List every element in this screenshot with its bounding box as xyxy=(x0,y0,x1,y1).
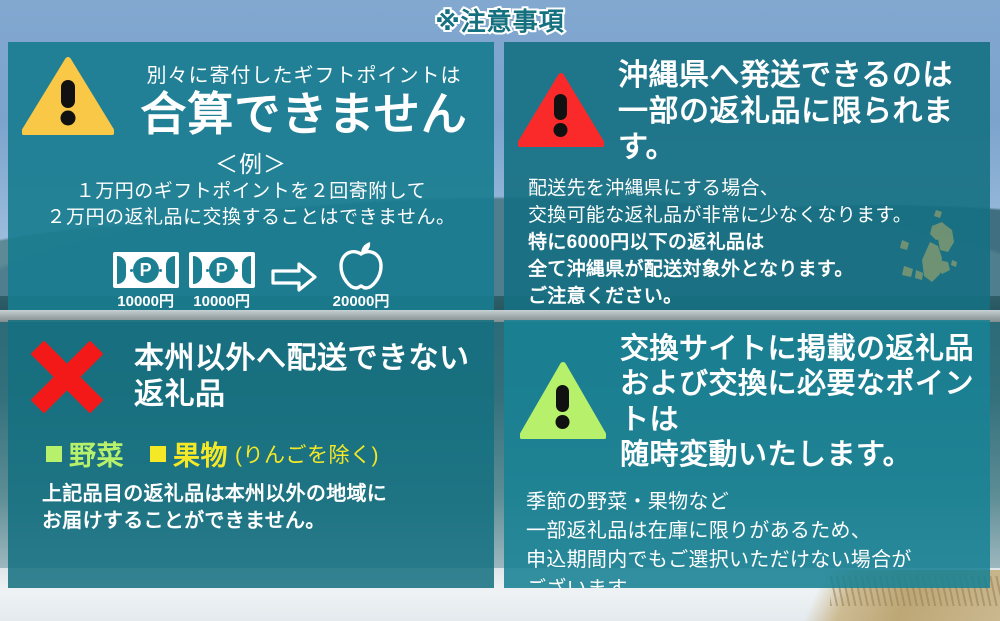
bullet-square-green-icon xyxy=(46,446,62,462)
panel4-body-line-3: 申込期間内でもご選択いただけない場合が xyxy=(526,546,990,575)
panel1-headline: 合算できません xyxy=(114,90,494,138)
panel4-headline-line-3: 随時変動いたします。 xyxy=(620,438,990,473)
panel4-headline-row: 交換サイトに掲載の返礼品 および交換に必要なポイントは 随時変動いたします。 xyxy=(504,320,990,474)
panel-honshu-only: 本州以外へ配送できない 返礼品 野菜 果物 (りんごを除く) 上記品目の返礼品は… xyxy=(8,320,494,588)
panel2-body-line-1: 配送先を沖縄県にする場合、 xyxy=(528,176,990,203)
notice-panel-grid: 別々に寄付したギフトポイントは 合算できません ＜例＞ １万円のギフトポイントを… xyxy=(8,42,990,588)
panel3-headline-row: 本州以外へ配送できない 返礼品 xyxy=(8,320,494,416)
panel4-body-line-4: ございます。 xyxy=(526,575,990,589)
panel2-headline: 沖縄県へ発送できるのは 一部の返礼品に限られます。 xyxy=(618,58,990,166)
panel-gift-point-sum: 別々に寄付したギフトポイントは 合算できません ＜例＞ １万円のギフトポイントを… xyxy=(8,42,494,310)
panel1-icon-row: P 10000円 P 10000円 xyxy=(8,240,494,310)
panel4-body-line-2: 一部返礼品は在庫に限りがあるため、 xyxy=(526,517,990,546)
notice-infographic: ※注意事項 別々に寄付したギフトポイントは 合算できません ＜例＞ １万 xyxy=(0,0,1000,621)
panel3-body-line-1: 上記品目の返礼品は本州以外の地域に xyxy=(42,481,494,508)
category-fruit: 果物 (りんごを除く) xyxy=(150,434,379,473)
panel-point-change: 交換サイトに掲載の返礼品 および交換に必要なポイントは 随時変動いたします。 季… xyxy=(504,320,990,588)
apple-value-label: 20000円 xyxy=(333,290,390,310)
panel2-headline-line-1: 沖縄県へ発送できるのは xyxy=(618,58,990,94)
panel4-headline-line-2: および交換に必要なポイントは xyxy=(620,367,990,438)
okinawa-map-silhouette-icon xyxy=(864,204,974,294)
panel1-example-line-2: ２万円の返礼品に交換することはできません。 xyxy=(8,205,494,231)
panel1-lead-text: 別々に寄付したギフトポイントは xyxy=(114,59,494,88)
bill-2-label: 10000円 xyxy=(193,290,250,310)
banknote-icon: P xyxy=(189,252,255,288)
panel3-body-line-2: お届けすることができません。 xyxy=(42,508,494,535)
panel4-headline: 交換サイトに掲載の返礼品 および交換に必要なポイントは 随時変動いたします。 xyxy=(620,332,990,474)
bullet-square-yellow-icon xyxy=(150,446,166,462)
panel2-headline-row: 沖縄県へ発送できるのは 一部の返礼品に限られます。 xyxy=(504,42,990,166)
bill-1-label: 10000円 xyxy=(117,290,174,310)
panel2-headline-line-2: 一部の返礼品に限られます。 xyxy=(618,94,990,166)
category-fruit-label: 果物 xyxy=(173,434,228,473)
panel1-headline-row: 別々に寄付したギフトポイントは 合算できません xyxy=(8,42,494,141)
panel3-category-list: 野菜 果物 (りんごを除く) xyxy=(8,416,494,473)
banknote-icon: P xyxy=(113,252,179,288)
x-mark-red-icon xyxy=(28,338,106,416)
page-header: ※注意事項 xyxy=(0,0,1000,40)
point-symbol: P xyxy=(209,257,235,283)
panel3-headline-line-2: 返礼品 xyxy=(134,377,470,413)
warning-triangle-yellow-icon xyxy=(22,56,114,141)
panel3-headline-line-1: 本州以外へ配送できない xyxy=(134,341,470,377)
panel-okinawa-shipping: 沖縄県へ発送できるのは 一部の返礼品に限られます。 配送先を沖縄県にする場合、 … xyxy=(504,42,990,310)
panel3-body: 上記品目の返礼品は本州以外の地域に お届けすることができません。 xyxy=(8,473,494,535)
category-fruit-note: (りんごを除く) xyxy=(235,439,379,469)
category-vegetables-label: 野菜 xyxy=(69,434,124,473)
point-bill-2: P 10000円 xyxy=(189,252,255,310)
warning-triangle-red-icon xyxy=(518,72,604,153)
panel4-headline-line-1: 交換サイトに掲載の返礼品 xyxy=(620,332,990,367)
point-bill-1: P 10000円 xyxy=(113,252,179,310)
page-title: ※注意事項 xyxy=(435,2,564,38)
apple-icon xyxy=(338,240,384,288)
panel1-text-block: 別々に寄付したギフトポイントは 合算できません xyxy=(114,59,494,138)
banknote-dot-right xyxy=(235,269,238,272)
panel4-body: 季節の野菜・果物など 一部返礼品は在庫に限りがあるため、 申込期間内でもご選択い… xyxy=(504,474,990,589)
warning-triangle-green-icon xyxy=(520,360,606,445)
panel1-example-label: ＜例＞ xyxy=(8,145,494,179)
arrow-right-icon xyxy=(271,261,317,293)
panel1-example-line-1: １万円のギフトポイントを２回寄附して xyxy=(8,179,494,205)
panel3-headline: 本州以外へ配送できない 返礼品 xyxy=(134,341,470,413)
panel4-body-line-1: 季節の野菜・果物など xyxy=(526,488,990,517)
banknote-dot-right xyxy=(159,269,162,272)
reward-apple: 20000円 xyxy=(333,240,390,310)
point-symbol: P xyxy=(133,257,159,283)
category-vegetables: 野菜 xyxy=(46,434,124,473)
